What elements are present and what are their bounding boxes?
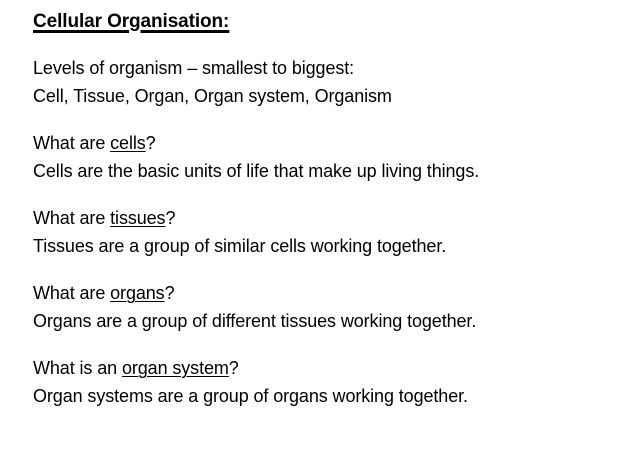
key-term: organ system (122, 358, 229, 378)
text-block-tissues: What are tissues? Tissues are a group of… (33, 204, 618, 260)
key-term: organs (110, 283, 164, 303)
line-prefix: Organs are a group of different tissues … (33, 311, 476, 331)
text-line: Levels of organism – smallest to biggest… (33, 54, 618, 82)
text-line: Cells are the basic units of life that m… (33, 157, 618, 185)
line-prefix: What are (33, 208, 110, 228)
line-prefix: Organ systems are a group of organs work… (33, 386, 468, 406)
text-line: Tissues are a group of similar cells wor… (33, 232, 618, 260)
line-suffix: ? (229, 358, 239, 378)
text-block-organs: What are organs? Organs are a group of d… (33, 279, 618, 335)
line-prefix: What are (33, 283, 110, 303)
document-page: Cellular Organisation: Levels of organis… (0, 0, 628, 471)
page-title: Cellular Organisation: (33, 9, 618, 35)
key-term: cells (110, 133, 146, 153)
text-line: What are organs? (33, 279, 618, 307)
line-suffix: – smallest to biggest: (187, 58, 354, 78)
text-line: Organs are a group of different tissues … (33, 307, 618, 335)
text-line: What is an organ system? (33, 354, 618, 382)
text-line: What are cells? (33, 129, 618, 157)
line-suffix: ? (165, 283, 175, 303)
line-suffix: ? (146, 133, 156, 153)
line-suffix: ? (165, 208, 175, 228)
text-block-organ-systems: What is an organ system? Organ systems a… (33, 354, 618, 410)
line-prefix: Tissues are a group of similar cells wor… (33, 236, 446, 256)
text-block-levels: Levels of organism – smallest to biggest… (33, 54, 618, 110)
line-prefix: Cell, Tissue, Organ, Organ system, Organ… (33, 86, 392, 106)
line-prefix: Cells are the basic units of life that m… (33, 161, 479, 181)
line-prefix: Levels of organism (33, 58, 187, 78)
text-block-cells: What are cells? Cells are the basic unit… (33, 129, 618, 185)
line-prefix: What is an (33, 358, 122, 378)
text-line: Organ systems are a group of organs work… (33, 382, 618, 410)
text-line: Cell, Tissue, Organ, Organ system, Organ… (33, 82, 618, 110)
page-title-text: Cellular Organisation: (33, 11, 229, 32)
key-term: tissues (110, 208, 165, 228)
text-line: What are tissues? (33, 204, 618, 232)
line-prefix: What are (33, 133, 110, 153)
